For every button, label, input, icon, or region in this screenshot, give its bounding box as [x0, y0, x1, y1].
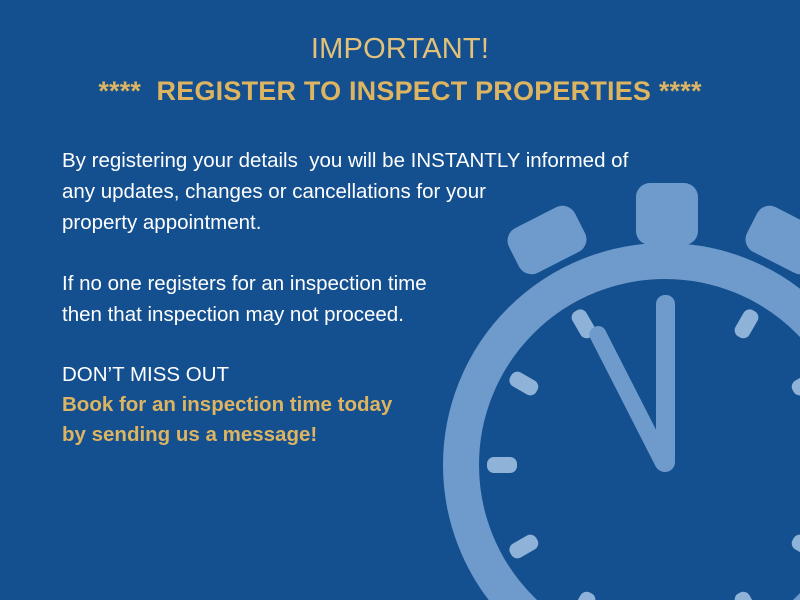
page-subtitle-register: **** REGISTER TO INSPECT PROPERTIES **** — [0, 74, 800, 108]
paragraph-no-registration: If no one registers for an inspection ti… — [62, 268, 722, 330]
clock-lug-right-icon — [741, 201, 800, 279]
slide-canvas: IMPORTANT! **** REGISTER TO INSPECT PROP… — [0, 0, 800, 600]
body-line: If no one registers for an inspection ti… — [62, 268, 722, 299]
body-line: By registering your details you will be … — [62, 145, 722, 176]
cta-line-book-inspection: Book for an inspection time today — [62, 390, 722, 420]
body-line: property appointment. — [62, 207, 722, 238]
page-title-important: IMPORTANT! — [0, 30, 800, 68]
body-line: any updates, changes or cancellations fo… — [62, 176, 722, 207]
body-copy: By registering your details you will be … — [62, 145, 722, 450]
clock-pivot — [655, 452, 675, 472]
cta-line-dont-miss-out: DON’T MISS OUT — [62, 360, 722, 390]
body-line: then that inspection may not proceed. — [62, 299, 722, 330]
cta-line-send-message: by sending us a message! — [62, 420, 722, 450]
heading-block: IMPORTANT! **** REGISTER TO INSPECT PROP… — [0, 30, 800, 108]
paragraph-call-to-action: DON’T MISS OUT Book for an inspection ti… — [62, 360, 722, 450]
paragraph-registering: By registering your details you will be … — [62, 145, 722, 238]
